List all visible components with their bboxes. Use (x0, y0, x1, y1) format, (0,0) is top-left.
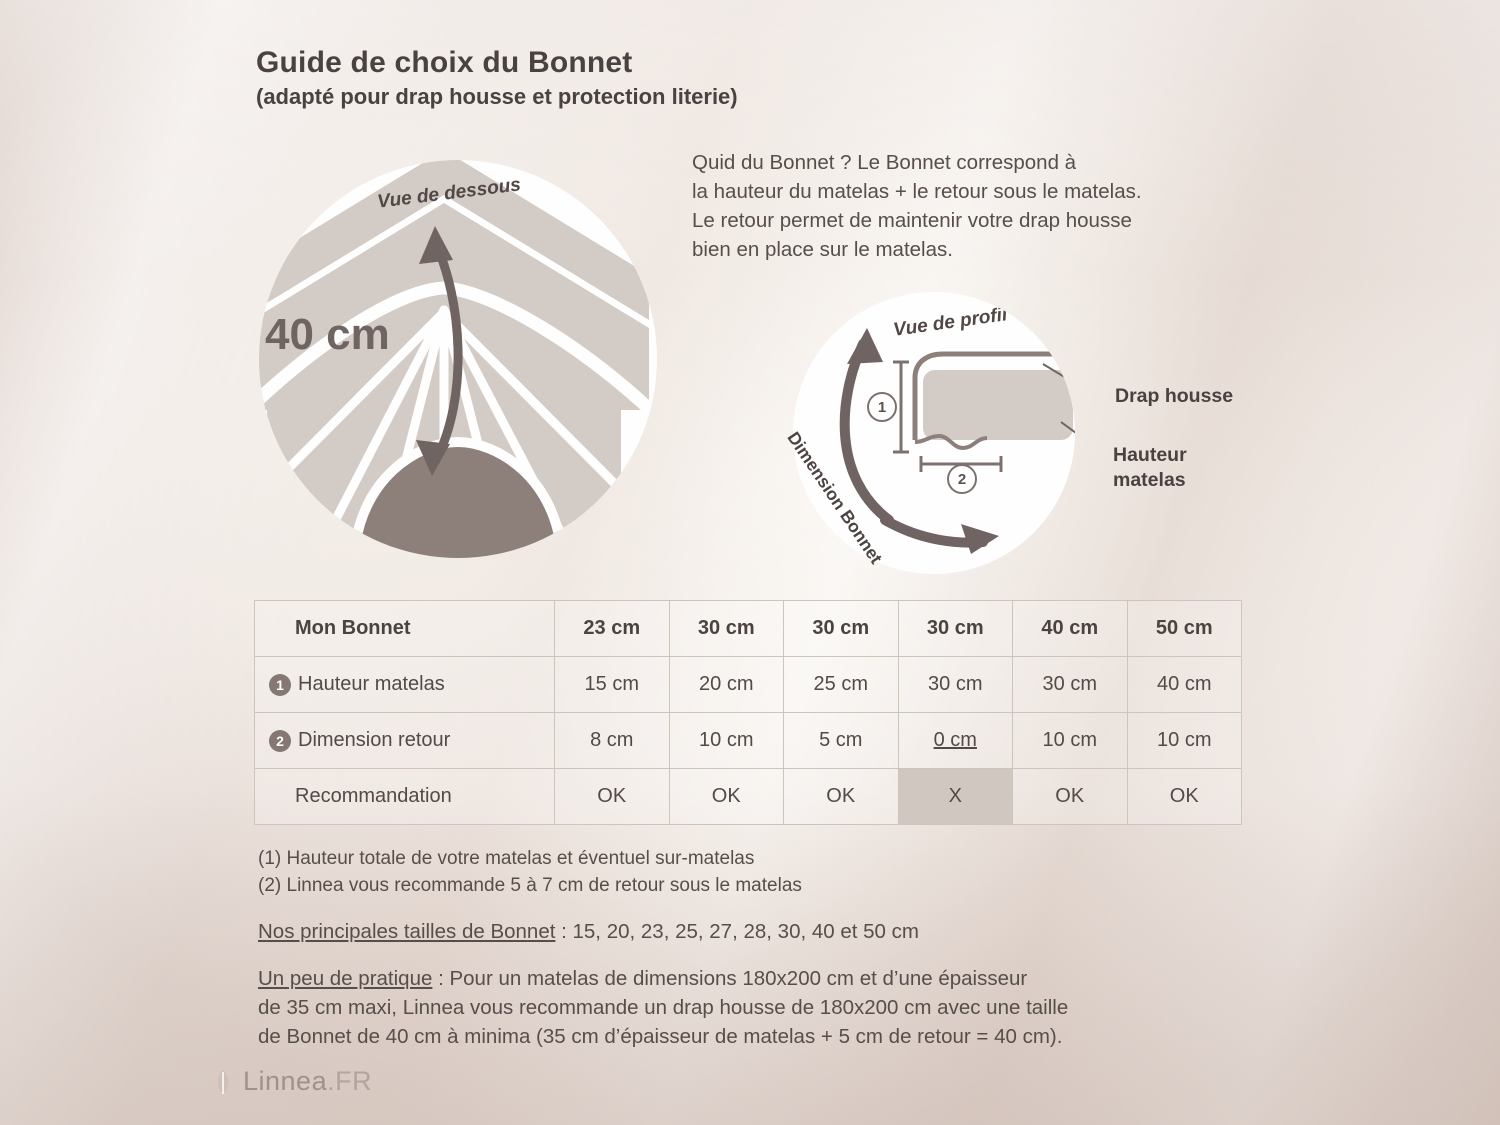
hauteur-matelas-col-2: 20 cm (669, 657, 784, 713)
sizes-label: Nos principales tailles de Bonnet (258, 920, 555, 943)
table-header: Mon Bonnet 23 cm 30 cm 30 cm 30 cm 40 cm… (255, 601, 1242, 657)
table-row: 1Hauteur matelas 15 cm 20 cm 25 cm 30 cm… (255, 657, 1242, 713)
row-label-hauteur-matelas: 1Hauteur matelas (255, 657, 555, 713)
practice-block: Un peu de pratique : Pour un matelas de … (258, 964, 1258, 1051)
brand-name-text: Linnea (243, 1066, 327, 1096)
note-1: (1) Hauteur totale de votre matelas et é… (258, 845, 1258, 872)
dimension-retour-col-2: 10 cm (669, 713, 784, 769)
recommandation-col-1: OK (555, 769, 670, 825)
intro-line-3: Le retour permet de maintenir votre drap… (692, 206, 1272, 235)
dimension-retour-col-4: 0 cm (898, 713, 1013, 769)
badge-2: 2 (269, 730, 291, 752)
callout-hauteur-matelas: Hauteur matelas (1113, 443, 1187, 493)
intro-line-4: bien en place sur le matelas. (692, 235, 1272, 264)
hauteur-matelas-col-4: 30 cm (898, 657, 1013, 713)
header-col-4: 30 cm (898, 601, 1013, 657)
table-header-row: Mon Bonnet 23 cm 30 cm 30 cm 30 cm 40 cm… (255, 601, 1242, 657)
row-label-hauteur-matelas-text: Hauteur matelas (298, 673, 445, 695)
recommandation-col-4: X (898, 769, 1013, 825)
page-title: Guide de choix du Bonnet (256, 46, 738, 80)
sizes-line: Nos principales tailles de Bonnet : 15, … (258, 917, 1258, 946)
note-2: (2) Linnea vous recommande 5 à 7 cm de r… (258, 872, 1258, 899)
row-label-dimension-retour: 2Dimension retour (255, 713, 555, 769)
intro-line-2: la hauteur du matelas + le retour sous l… (692, 177, 1272, 206)
callout-drap-housse: Drap housse (1115, 384, 1233, 409)
dimension-retour-col-6: 10 cm (1127, 713, 1242, 769)
guide-poster: Guide de choix du Bonnet (adapté pour dr… (0, 0, 1500, 1125)
intro-paragraph: Quid du Bonnet ? Le Bonnet correspond à … (692, 148, 1272, 264)
brand-tld: .FR (327, 1066, 372, 1096)
table-row: Recommandation OK OK OK X OK OK (255, 769, 1242, 825)
badge-1-profile: 1 (867, 392, 897, 422)
recommandation-col-5: OK (1013, 769, 1128, 825)
practice-line-1: : Pour un matelas de dimensions 180x200 … (432, 967, 1027, 990)
callout-hauteur-matelas-line1: Hauteur (1113, 443, 1187, 468)
dimension-retour-col-1: 8 cm (555, 713, 670, 769)
hauteur-matelas-col-1: 15 cm (555, 657, 670, 713)
diagram-bottom-view: Vue de dessous 40 cm (259, 160, 657, 558)
header-col-1: 23 cm (555, 601, 670, 657)
bonnet-table: Mon Bonnet 23 cm 30 cm 30 cm 30 cm 40 cm… (254, 600, 1242, 825)
table-row: 2Dimension retour 8 cm 10 cm 5 cm 0 cm 1… (255, 713, 1242, 769)
header-mon-bonnet: Mon Bonnet (255, 601, 555, 657)
hauteur-matelas-col-6: 40 cm (1127, 657, 1242, 713)
header-col-3: 30 cm (784, 601, 899, 657)
dimension-retour-col-3: 5 cm (784, 713, 899, 769)
header-col-2: 30 cm (669, 601, 784, 657)
practice-line-3: de Bonnet de 40 cm à minima (35 cm d’épa… (258, 1022, 1258, 1051)
dimension-retour-col-5: 10 cm (1013, 713, 1128, 769)
practice-label: Un peu de pratique (258, 967, 432, 990)
sizes-value: : 15, 20, 23, 25, 27, 28, 30, 40 et 50 c… (555, 920, 919, 943)
recommendation-table: Mon Bonnet 23 cm 30 cm 30 cm 30 cm 40 cm… (254, 600, 1242, 825)
row-label-dimension-retour-text: Dimension retour (298, 729, 450, 751)
recommandation-col-3: OK (784, 769, 899, 825)
recommandation-col-6: OK (1127, 769, 1242, 825)
brand-name: Linnea.FR (243, 1066, 372, 1097)
dimension-retour-col-4-value: 0 cm (934, 729, 977, 751)
title-block: Guide de choix du Bonnet (adapté pour dr… (256, 46, 738, 110)
leaf-icon (212, 1069, 234, 1095)
callout-hauteur-matelas-line2: matelas (1113, 468, 1187, 493)
hauteur-matelas-col-5: 30 cm (1013, 657, 1128, 713)
bonnet-measure-value: 40 cm (265, 310, 390, 360)
intro-line-1: Quid du Bonnet ? Le Bonnet correspond à (692, 148, 1272, 177)
badge-1: 1 (269, 674, 291, 696)
notes-block: (1) Hauteur totale de votre matelas et é… (258, 845, 1258, 1051)
hauteur-matelas-col-3: 25 cm (784, 657, 899, 713)
header-col-6: 50 cm (1127, 601, 1242, 657)
row-label-recommandation: Recommandation (255, 769, 555, 825)
diagram-profile-view: Vue de profil 1 2 (793, 292, 1075, 574)
table-body: 1Hauteur matelas 15 cm 20 cm 25 cm 30 cm… (255, 657, 1242, 825)
brand-logo: Linnea.FR (212, 1066, 372, 1097)
page-subtitle: (adapté pour drap housse et protection l… (256, 84, 738, 110)
header-col-5: 40 cm (1013, 601, 1128, 657)
badge-2-profile: 2 (947, 464, 977, 494)
recommandation-col-2: OK (669, 769, 784, 825)
practice-line-2: de 35 cm maxi, Linnea vous recommande un… (258, 993, 1258, 1022)
